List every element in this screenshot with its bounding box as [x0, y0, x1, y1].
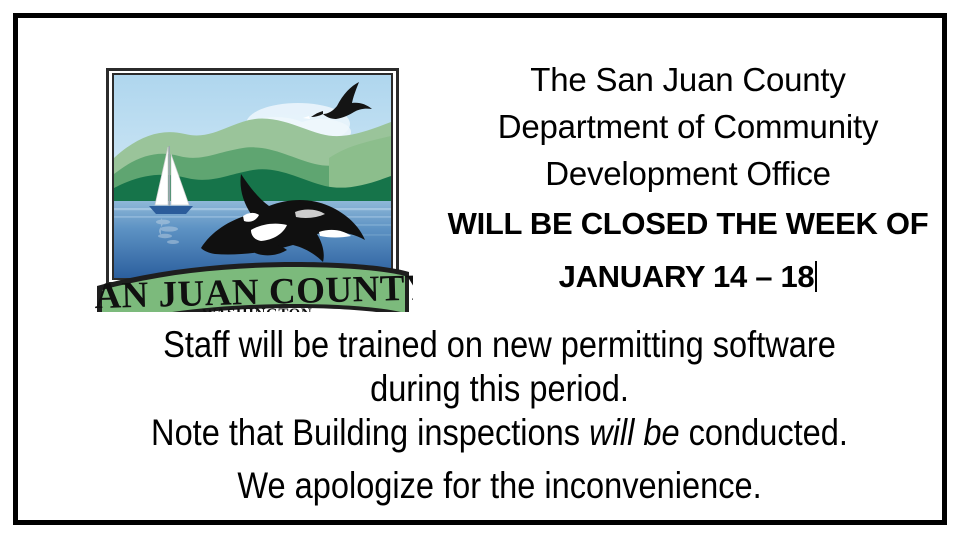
logo-scene: [114, 75, 391, 278]
body-spacer: [48, 455, 951, 464]
body-line-2: during this period.: [102, 367, 897, 411]
logo-state-text: WASHINGTON: [202, 306, 313, 312]
heading-line-3: Development Office: [418, 150, 958, 197]
closure-line-1: WILL BE CLOSED THE WEEK OF: [418, 197, 958, 250]
body-line-4: We apologize for the inconvenience.: [102, 464, 897, 508]
heading-line-1: The San Juan County: [418, 56, 958, 103]
closure-line-2: JANUARY 14 – 18: [418, 250, 958, 303]
body-line-3: Note that Building inspections will be c…: [102, 411, 897, 455]
slide-border-frame: SAN JUAN COUNTY WASHINGTON The San Juan …: [13, 13, 947, 525]
heading-block: The San Juan County Department of Commun…: [418, 56, 958, 303]
san-juan-county-logo: SAN JUAN COUNTY WASHINGTON: [93, 62, 413, 312]
text-cursor-caret: [815, 261, 817, 292]
body-line-1: Staff will be trained on new permitting …: [102, 323, 897, 367]
body-line-3-pre: Note that Building inspections: [151, 412, 589, 453]
body-line-3-post: conducted.: [680, 412, 848, 453]
body-block: Staff will be trained on new permitting …: [48, 323, 951, 508]
heading-line-2: Department of Community: [418, 103, 958, 150]
closure-dates: JANUARY 14 – 18: [559, 259, 815, 294]
notice-slide: SAN JUAN COUNTY WASHINGTON The San Juan …: [0, 0, 963, 543]
body-line-3-emphasis: will be: [589, 412, 679, 453]
